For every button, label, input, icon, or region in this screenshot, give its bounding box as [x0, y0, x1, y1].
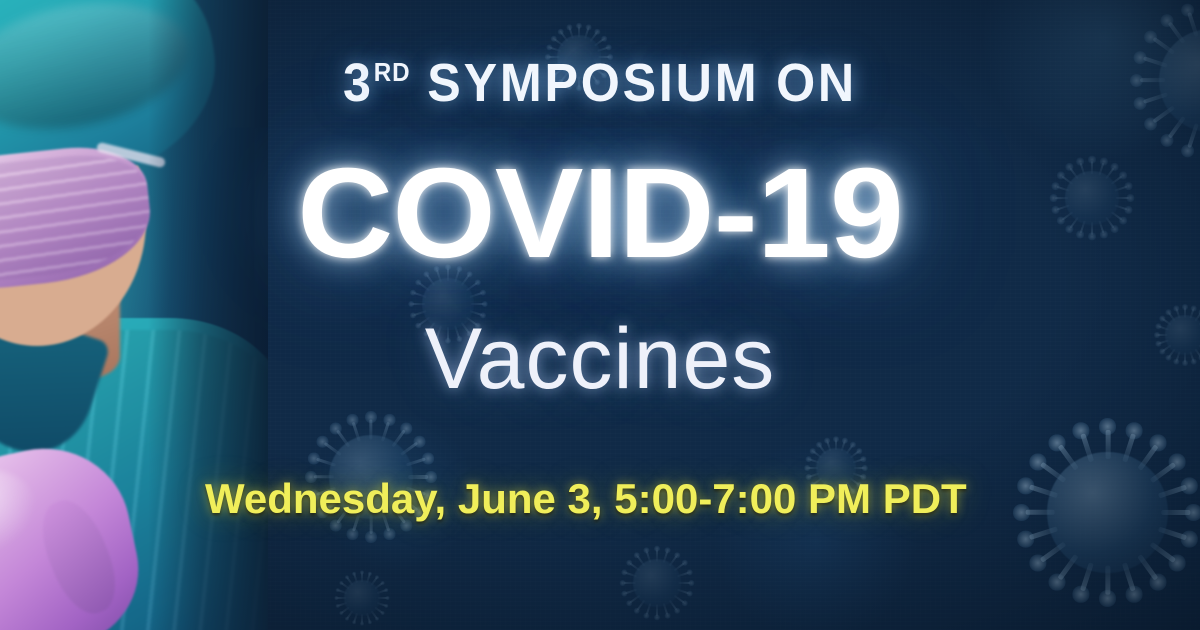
- banner-text-content: 3RD SYMPOSIUM ON COVID-19 Vaccines Wedne…: [0, 0, 1200, 630]
- symposium-promo-banner: 3RD SYMPOSIUM ON COVID-19 Vaccines Wedne…: [0, 0, 1200, 630]
- eyebrow-text: SYMPOSIUM ON: [427, 53, 857, 113]
- page-subtitle: Vaccines: [0, 316, 1200, 402]
- eyebrow-heading: 3RD SYMPOSIUM ON: [42, 56, 1158, 110]
- eyebrow-ordinal-number: 3: [343, 53, 374, 113]
- page-title: COVID-19: [0, 150, 1200, 278]
- eyebrow-ordinal-suffix: RD: [374, 57, 411, 87]
- event-dateline: Wednesday, June 3, 5:00-7:00 PM PDT: [205, 478, 967, 520]
